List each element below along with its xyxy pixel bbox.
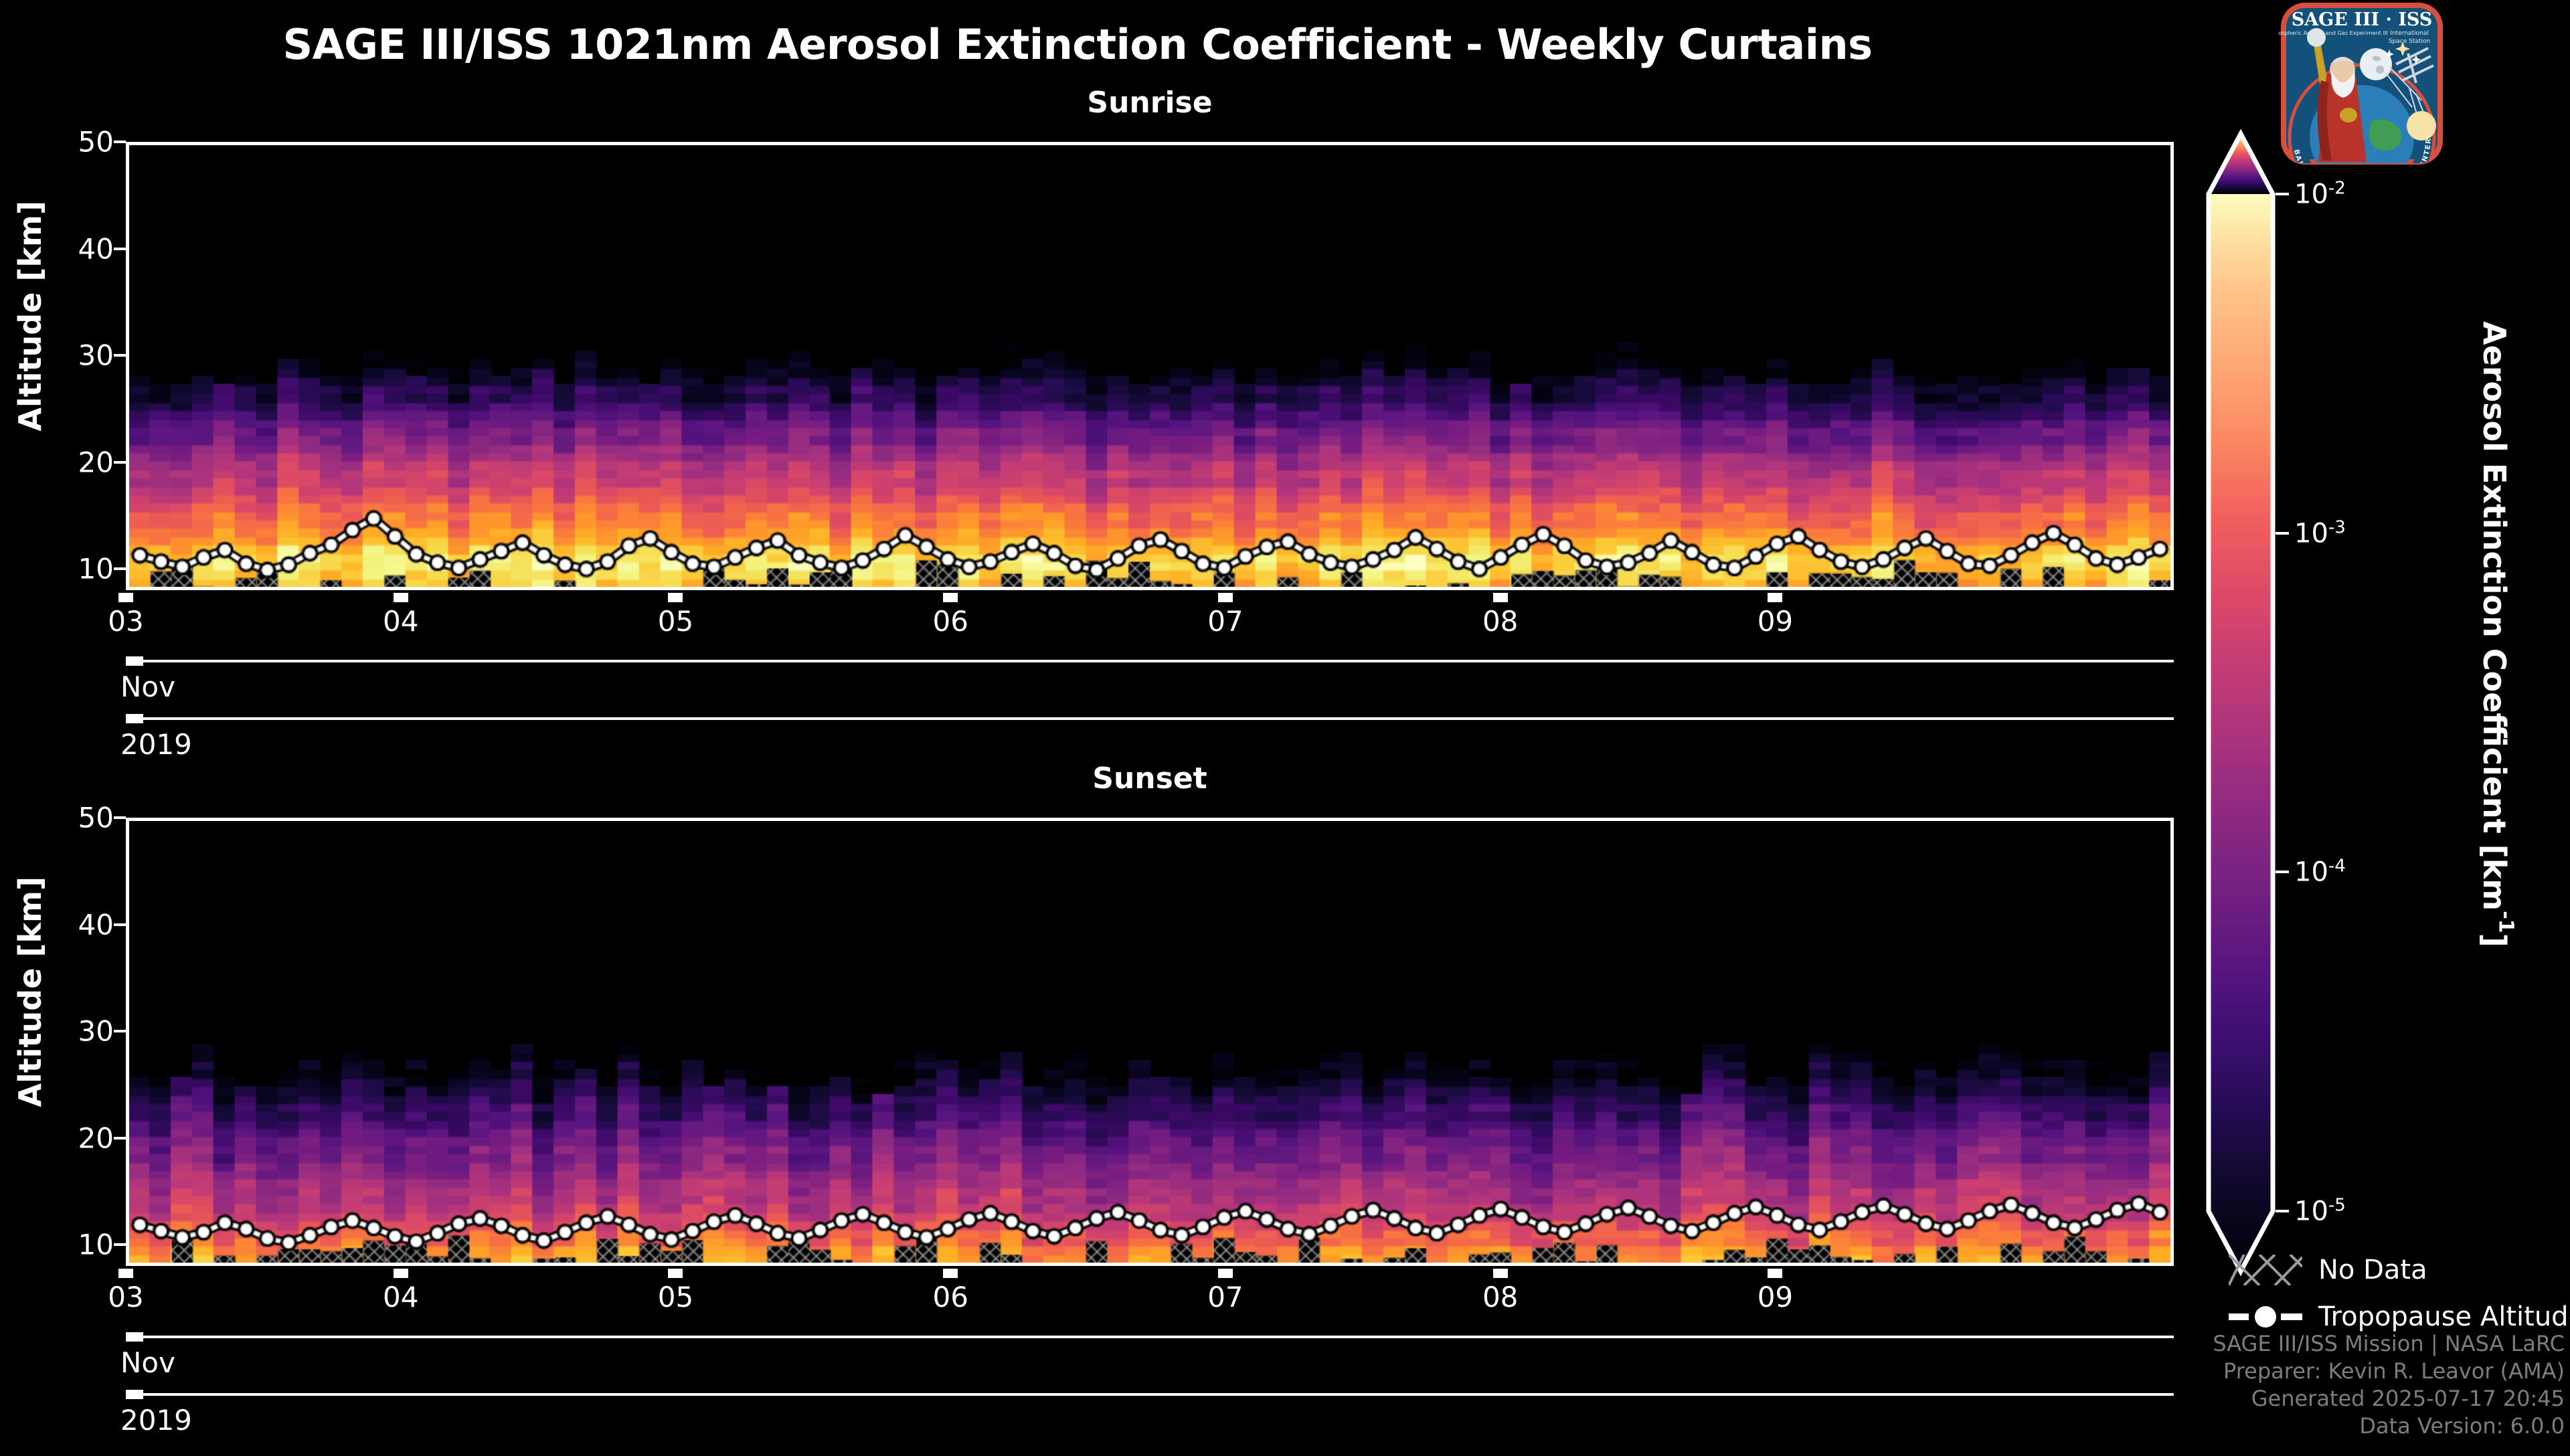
sunrise-year-label: 2019 xyxy=(120,728,192,761)
sunrise-y-axis-title: Altitude [km] xyxy=(12,201,48,432)
colorbar-tick xyxy=(2276,871,2289,873)
sunrise-y-tick-label: 40 xyxy=(78,232,114,265)
sunrise-panel-title: Sunrise xyxy=(126,86,2174,120)
no-data-hatch-icon xyxy=(2229,1255,2302,1285)
sunrise-x-tick-label: 09 xyxy=(1758,605,1793,638)
sunrise-x-tick xyxy=(668,593,683,602)
sunrise-x-tick xyxy=(943,593,958,602)
sunset-y-tick-label: 10 xyxy=(78,1228,114,1261)
sunset-y-tick-label: 30 xyxy=(78,1015,114,1048)
page-title: SAGE III/ISS 1021nm Aerosol Extinction C… xyxy=(0,20,2155,69)
colorbar-tick-label: 10-3 xyxy=(2294,517,2346,549)
sunrise-year-tick xyxy=(126,714,143,723)
sunset-y-tick xyxy=(114,1030,126,1032)
sunrise-month-label: Nov xyxy=(120,670,175,703)
sunset-x-tick xyxy=(1218,1269,1233,1278)
patch-subtitle-right-2: Space Station xyxy=(2389,38,2430,45)
colorbar-tick-label: 10-4 xyxy=(2294,856,2346,888)
sunset-x-tick xyxy=(1768,1269,1782,1278)
sunset-year-label: 2019 xyxy=(120,1404,192,1437)
sunrise-y-tick xyxy=(114,248,126,250)
sunset-year-rule xyxy=(126,1393,2174,1396)
sunrise-month-tick xyxy=(126,656,143,666)
sunrise-x-tick xyxy=(394,593,408,602)
sunrise-x-tick xyxy=(1218,593,1233,602)
sunset-panel-title: Sunset xyxy=(126,761,2174,796)
legend-label-tropopause: Tropopause Altitude xyxy=(2318,1301,2570,1332)
colorbar-tick xyxy=(2276,532,2289,535)
sunset-y-tick xyxy=(114,1243,126,1246)
footer-line-preparer: Preparer: Kevin R. Leavor (AMA) xyxy=(2213,1358,2565,1385)
sunrise-y-tick-label: 30 xyxy=(78,339,114,372)
sunrise-x-tick-label: 08 xyxy=(1482,605,1518,638)
colorbar-tick-label: 10-5 xyxy=(2294,1195,2346,1226)
tropopause-line-icon xyxy=(2229,1301,2302,1332)
footer-line-version: Data Version: 6.0.0 xyxy=(2213,1413,2565,1440)
sunset-x-tick-label: 08 xyxy=(1482,1281,1518,1313)
sunrise-x-tick-label: 07 xyxy=(1207,605,1243,638)
sunset-month-tick xyxy=(126,1332,143,1342)
sunrise-x-tick-label: 05 xyxy=(658,605,693,638)
legend-label-no-data: No Data xyxy=(2318,1255,2427,1285)
sunrise-heatmap-canvas xyxy=(129,145,2170,587)
sunset-x-tick xyxy=(668,1269,683,1278)
sunset-year-tick xyxy=(126,1390,143,1399)
footer-line-generated: Generated 2025-07-17 20:45 xyxy=(2213,1385,2565,1413)
legend-item-no-data: No Data xyxy=(2229,1251,2563,1289)
colorbar-tick xyxy=(2276,193,2289,195)
sunset-x-tick xyxy=(1493,1269,1508,1278)
sunset-x-tick-label: 05 xyxy=(658,1281,693,1313)
sunset-heatmap-canvas xyxy=(129,821,2170,1263)
sunset-heatmap-plot[interactable] xyxy=(126,818,2174,1266)
sunset-x-tick-label: 04 xyxy=(383,1281,418,1313)
sunrise-x-tick-label: 04 xyxy=(383,605,418,638)
sunrise-heatmap-plot[interactable] xyxy=(126,142,2174,590)
sunset-y-tick xyxy=(114,816,126,819)
sunrise-y-tick xyxy=(114,567,126,570)
sunrise-year-rule xyxy=(126,717,2174,720)
colorbar-tick-label: 10-2 xyxy=(2294,178,2346,209)
sunset-y-tick-label: 20 xyxy=(78,1121,114,1154)
sunset-x-axis: 03040506070809 xyxy=(126,1269,2174,1309)
colorbar-gradient xyxy=(2209,134,2296,1271)
sunset-x-tick-label: 07 xyxy=(1207,1281,1243,1313)
sunrise-x-tick xyxy=(1493,593,1508,602)
colorbar-title: Aerosol Extinction Coefficient [km-1] xyxy=(2476,321,2517,947)
patch-subtitle-left: Stratospheric Aerosol and Gas Experiment… xyxy=(2278,29,2388,36)
footer-credits: SAGE III/ISS Mission | NASA LaRC Prepare… xyxy=(2213,1330,2565,1440)
colorbar[interactable]: 10-210-310-410-5 xyxy=(2209,194,2273,1211)
footer-line-mission: SAGE III/ISS Mission | NASA LaRC xyxy=(2213,1330,2565,1358)
sunset-x-tick-label: 09 xyxy=(1758,1281,1793,1313)
sunset-month-label: Nov xyxy=(120,1346,175,1379)
sunrise-y-tick xyxy=(114,354,126,357)
sunset-y-tick xyxy=(114,923,126,926)
sunset-y-tick-label: 40 xyxy=(78,908,114,941)
sunrise-y-tick-label: 20 xyxy=(78,446,114,478)
sunrise-x-tick xyxy=(1768,593,1782,602)
sunrise-x-axis: 03040506070809 xyxy=(126,593,2174,633)
sunrise-x-tick xyxy=(118,593,133,602)
sunrise-y-tick xyxy=(114,141,126,143)
sunrise-y-tick xyxy=(114,461,126,464)
colorbar-tick xyxy=(2276,1210,2289,1212)
sage-iii-iss-mission-patch-logo: BALL · NASA LANGLEY RESEARCH CENTER · TA… xyxy=(2278,0,2446,167)
sunset-month-rule xyxy=(126,1336,2174,1338)
sunset-y-tick xyxy=(114,1137,126,1140)
sunrise-x-tick-label: 03 xyxy=(108,605,143,638)
sunset-date-hierarchy: Nov2019 xyxy=(126,1336,2174,1456)
sunset-x-tick-label: 03 xyxy=(108,1281,143,1313)
sunset-x-tick xyxy=(394,1269,408,1278)
sunrise-month-rule xyxy=(126,660,2174,662)
sunset-x-tick-label: 06 xyxy=(932,1281,968,1313)
sunset-x-tick xyxy=(943,1269,958,1278)
sunrise-y-tick-label: 50 xyxy=(78,126,114,159)
patch-title: SAGE III · ISS xyxy=(2292,9,2433,30)
sunrise-y-tick-label: 10 xyxy=(78,553,114,585)
patch-subtitle-right-1: International xyxy=(2390,30,2428,37)
sunset-y-tick-label: 50 xyxy=(78,802,114,834)
sunset-x-tick xyxy=(118,1269,133,1278)
sunset-y-axis-title: Altitude [km] xyxy=(12,877,48,1107)
sunrise-x-tick-label: 06 xyxy=(932,605,968,638)
